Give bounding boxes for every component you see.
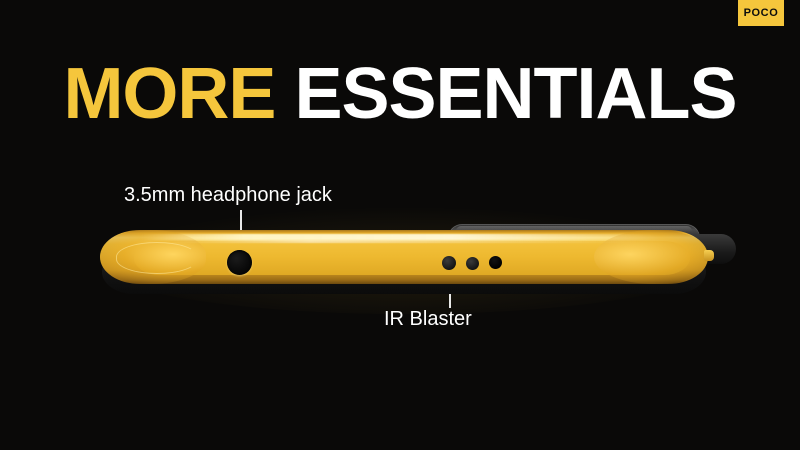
frame-left-cap-line xyxy=(116,242,198,274)
antenna-nub xyxy=(704,250,714,261)
ir-blaster-secondary-port xyxy=(466,257,479,270)
poco-logo-badge: POCO xyxy=(738,0,784,26)
callout-label-ir-blaster: IR Blaster xyxy=(384,308,472,331)
product-image-phone-top-edge xyxy=(96,212,712,304)
title-word-highlight: MORE xyxy=(63,54,275,134)
ir-blaster-port xyxy=(442,256,456,270)
page-title: MORE ESSENTIALS xyxy=(0,58,800,130)
headphone-jack-port xyxy=(227,250,252,275)
microphone-port xyxy=(489,256,502,269)
callout-label-headphone-jack: 3.5mm headphone jack xyxy=(124,184,332,207)
brand-name: POCO xyxy=(744,7,779,19)
slide-canvas: POCO MORE ESSENTIALS 3.5mm headphone jac… xyxy=(0,0,800,450)
frame-specular-highlight-secondary xyxy=(170,240,640,243)
title-word-plain: ESSENTIALS xyxy=(275,54,736,134)
phone-yellow-frame xyxy=(100,230,708,284)
